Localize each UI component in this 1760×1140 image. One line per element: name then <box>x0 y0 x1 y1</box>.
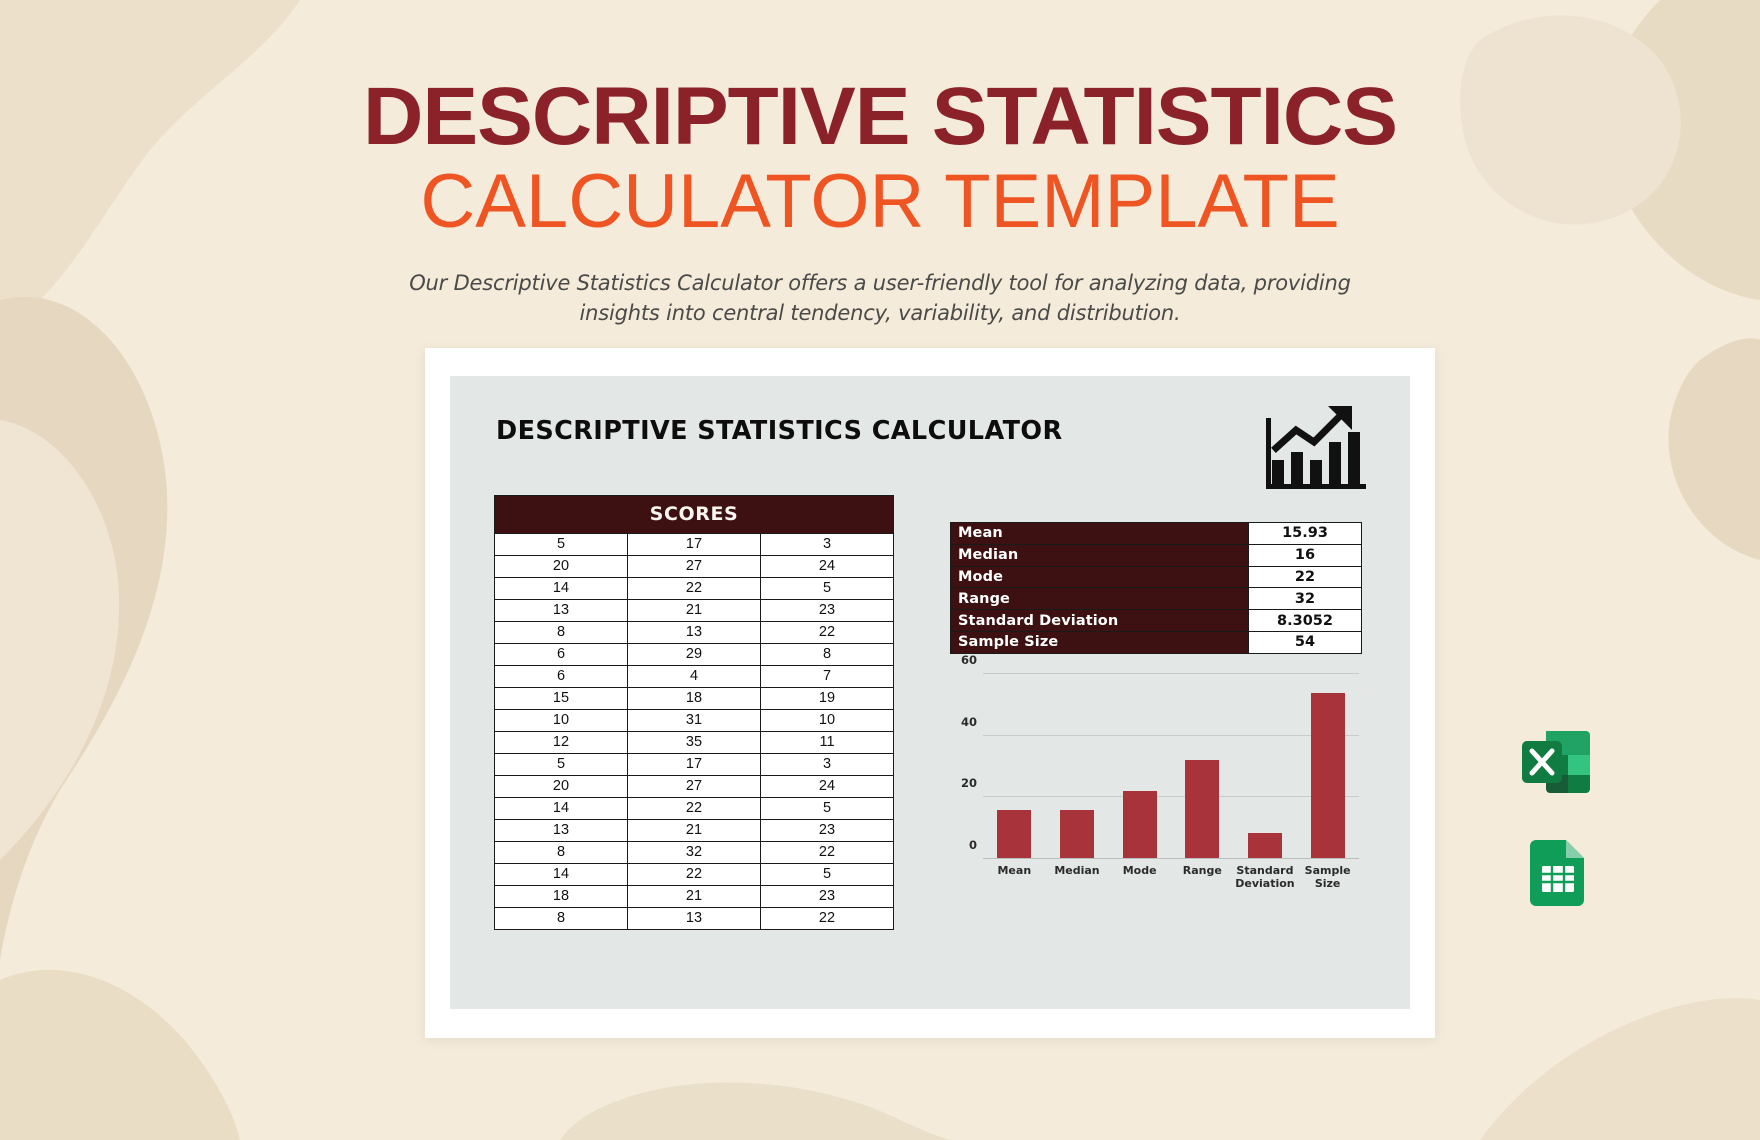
score-cell[interactable]: 12 <box>495 732 628 754</box>
statistics-bar-chart: 0204060 MeanMedianModeRangeStandard Devi… <box>945 666 1365 901</box>
chart-bar <box>1123 791 1157 859</box>
chart-x-tick-label: Sample Size <box>1296 861 1359 901</box>
chart-bars <box>983 674 1359 859</box>
score-cell[interactable]: 3 <box>761 754 894 776</box>
score-cell[interactable]: 22 <box>628 798 761 820</box>
score-cell[interactable]: 14 <box>495 578 628 600</box>
score-cell[interactable]: 11 <box>761 732 894 754</box>
chart-bar <box>1185 760 1219 859</box>
stat-value[interactable]: 32 <box>1249 588 1362 610</box>
score-cell[interactable]: 13 <box>628 908 761 930</box>
score-cell[interactable]: 14 <box>495 864 628 886</box>
page-header: DESCRIPTIVE STATISTICS CALCULATOR TEMPLA… <box>0 0 1760 329</box>
score-cell[interactable]: 5 <box>495 534 628 556</box>
page-title-line1: DESCRIPTIVE STATISTICS <box>0 78 1760 156</box>
table-row[interactable]: 5173 <box>495 534 894 556</box>
statistics-summary-table[interactable]: Mean15.93Median16Mode22Range32Standard D… <box>950 522 1362 654</box>
stat-label: Standard Deviation <box>951 610 1249 632</box>
score-cell[interactable]: 3 <box>761 534 894 556</box>
chart-x-labels: MeanMedianModeRangeStandard DeviationSam… <box>983 861 1359 901</box>
score-cell[interactable]: 35 <box>628 732 761 754</box>
score-cell[interactable]: 23 <box>761 886 894 908</box>
score-cell[interactable]: 21 <box>628 820 761 842</box>
score-cell[interactable]: 24 <box>761 776 894 798</box>
score-cell[interactable]: 24 <box>761 556 894 578</box>
scores-header-row: SCORES <box>495 496 894 534</box>
score-cell[interactable]: 20 <box>495 556 628 578</box>
chart-x-tick-label: Range <box>1171 861 1234 901</box>
growth-bar-chart-arrow-icon <box>1260 398 1370 493</box>
chart-x-tick-label: Mean <box>983 861 1046 901</box>
chart-bar <box>1248 833 1282 859</box>
table-row[interactable]: Standard Deviation8.3052 <box>951 610 1362 632</box>
scores-header-cell: SCORES <box>495 496 894 534</box>
score-cell[interactable]: 7 <box>761 666 894 688</box>
score-cell[interactable]: 27 <box>628 776 761 798</box>
stat-label: Sample Size <box>951 631 1249 653</box>
score-cell[interactable]: 18 <box>495 886 628 908</box>
score-cell[interactable]: 8 <box>495 908 628 930</box>
score-cell[interactable]: 8 <box>761 644 894 666</box>
table-row[interactable]: 81322 <box>495 908 894 930</box>
table-row[interactable]: 123511 <box>495 732 894 754</box>
score-cell[interactable]: 22 <box>761 908 894 930</box>
table-row[interactable]: 5173 <box>495 754 894 776</box>
table-row[interactable]: 202724 <box>495 776 894 798</box>
score-cell[interactable]: 4 <box>628 666 761 688</box>
stat-label: Mode <box>951 566 1249 588</box>
stat-value[interactable]: 16 <box>1249 544 1362 566</box>
table-row[interactable]: 151819 <box>495 688 894 710</box>
score-cell[interactable]: 5 <box>761 864 894 886</box>
table-row[interactable]: 83222 <box>495 842 894 864</box>
score-cell[interactable]: 22 <box>628 864 761 886</box>
chart-bar-column <box>1234 674 1297 859</box>
chart-bar <box>997 810 1031 859</box>
score-cell[interactable]: 17 <box>628 754 761 776</box>
score-cell[interactable]: 22 <box>761 842 894 864</box>
table-row[interactable]: 132123 <box>495 820 894 842</box>
chart-plot-area: 0204060 <box>983 674 1359 859</box>
stat-label: Median <box>951 544 1249 566</box>
score-cell[interactable]: 5 <box>761 798 894 820</box>
score-cell[interactable]: 13 <box>628 622 761 644</box>
stat-label: Mean <box>951 523 1249 545</box>
spreadsheet-title: DESCRIPTIVE STATISTICS CALCULATOR <box>496 416 1063 446</box>
score-cell[interactable]: 23 <box>761 820 894 842</box>
microsoft-excel-icon[interactable] <box>1520 725 1592 799</box>
score-cell[interactable]: 17 <box>628 534 761 556</box>
score-cell[interactable]: 15 <box>495 688 628 710</box>
score-cell[interactable]: 22 <box>628 578 761 600</box>
chart-bar <box>1311 693 1345 860</box>
score-cell[interactable]: 19 <box>761 688 894 710</box>
chart-y-tick-label: 60 <box>961 653 977 667</box>
stat-value[interactable]: 54 <box>1249 631 1362 653</box>
score-cell[interactable]: 31 <box>628 710 761 732</box>
score-cell[interactable]: 20 <box>495 776 628 798</box>
table-row[interactable]: 6298 <box>495 644 894 666</box>
chart-bar-column <box>1108 674 1171 859</box>
stat-label: Range <box>951 588 1249 610</box>
score-cell[interactable]: 18 <box>628 688 761 710</box>
chart-bar <box>1060 810 1094 859</box>
score-cell[interactable]: 6 <box>495 644 628 666</box>
table-row[interactable]: Median16 <box>951 544 1362 566</box>
table-row[interactable]: 81322 <box>495 622 894 644</box>
chart-x-tick-label: Median <box>1046 861 1109 901</box>
page-title-line2: CALCULATOR TEMPLATE <box>0 162 1760 242</box>
score-cell[interactable]: 5 <box>761 578 894 600</box>
table-row[interactable]: 14225 <box>495 578 894 600</box>
statistics-body: Mean15.93Median16Mode22Range32Standard D… <box>951 523 1362 654</box>
table-row[interactable]: 182123 <box>495 886 894 908</box>
table-row[interactable]: 647 <box>495 666 894 688</box>
score-cell[interactable]: 32 <box>628 842 761 864</box>
chart-bar-column <box>983 674 1046 859</box>
score-cell[interactable]: 21 <box>628 600 761 622</box>
score-cell[interactable]: 23 <box>761 600 894 622</box>
table-row[interactable]: Mode22 <box>951 566 1362 588</box>
score-cell[interactable]: 29 <box>628 644 761 666</box>
table-row[interactable]: 132123 <box>495 600 894 622</box>
chart-x-tick-label: Mode <box>1108 861 1171 901</box>
scores-table[interactable]: SCORES 517320272414225132123813226298647… <box>494 495 894 930</box>
score-cell[interactable]: 5 <box>495 754 628 776</box>
chart-bar-column <box>1046 674 1109 859</box>
stat-value[interactable]: 22 <box>1249 566 1362 588</box>
table-row[interactable]: 14225 <box>495 798 894 820</box>
score-cell[interactable]: 10 <box>495 710 628 732</box>
chart-x-tick-label: Standard Deviation <box>1234 861 1297 901</box>
table-row[interactable]: 103110 <box>495 710 894 732</box>
score-cell[interactable]: 10 <box>761 710 894 732</box>
scores-body: 5173202724142251321238132262986471518191… <box>495 534 894 930</box>
score-cell[interactable]: 8 <box>495 842 628 864</box>
stat-value[interactable]: 15.93 <box>1249 523 1362 545</box>
table-row[interactable]: Mean15.93 <box>951 523 1362 545</box>
score-cell[interactable]: 14 <box>495 798 628 820</box>
page-subtitle: Our Descriptive Statistics Calculator of… <box>400 268 1360 329</box>
score-cell[interactable]: 27 <box>628 556 761 578</box>
chart-y-tick-label: 20 <box>961 776 977 790</box>
score-cell[interactable]: 22 <box>761 622 894 644</box>
stat-value[interactable]: 8.3052 <box>1249 610 1362 632</box>
template-preview-card: DESCRIPTIVE STATISTICS CALCULATOR SCORES… <box>425 348 1435 1038</box>
score-cell[interactable]: 21 <box>628 886 761 908</box>
score-cell[interactable]: 6 <box>495 666 628 688</box>
score-cell[interactable]: 13 <box>495 820 628 842</box>
chart-bar-column <box>1171 674 1234 859</box>
chart-bar-column <box>1296 674 1359 859</box>
chart-y-tick-label: 40 <box>961 715 977 729</box>
table-row[interactable]: Range32 <box>951 588 1362 610</box>
chart-y-tick-label: 0 <box>969 838 977 852</box>
score-cell[interactable]: 8 <box>495 622 628 644</box>
google-sheets-icon[interactable] <box>1528 838 1590 908</box>
table-row[interactable]: 14225 <box>495 864 894 886</box>
spreadsheet-panel: DESCRIPTIVE STATISTICS CALCULATOR SCORES… <box>450 376 1410 1009</box>
chart-x-axis <box>983 858 1359 859</box>
table-row[interactable]: 202724 <box>495 556 894 578</box>
table-row[interactable]: Sample Size54 <box>951 631 1362 653</box>
score-cell[interactable]: 13 <box>495 600 628 622</box>
